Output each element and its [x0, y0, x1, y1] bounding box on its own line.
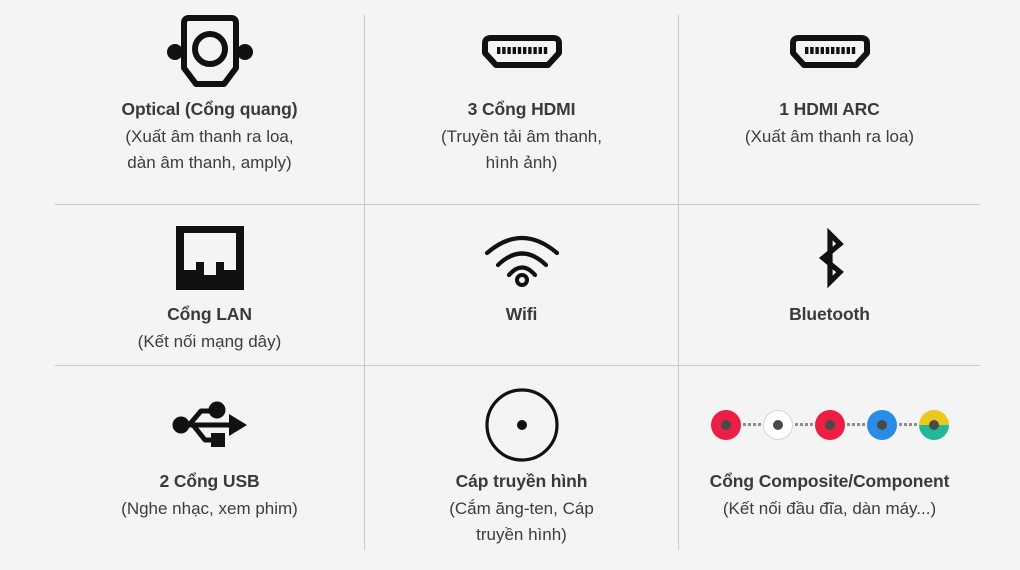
cell-subtitle: (Cắm ăng-ten, Cáp truyền hình)	[449, 496, 594, 549]
cell-title: 1 HDMI ARC	[779, 98, 879, 122]
hdmi-port-icon	[365, 0, 678, 98]
cell-title: Cáp truyền hình	[456, 470, 588, 494]
cell-usb: 2 Cổng USB (Nghe nhạc, xem phim)	[55, 366, 364, 570]
rca-connector-row	[711, 410, 949, 440]
rca-white	[763, 410, 793, 440]
rca-pin	[825, 420, 835, 430]
wifi-icon	[365, 205, 678, 301]
cell-bluetooth: Bluetooth	[679, 205, 980, 365]
bluetooth-icon	[679, 205, 980, 301]
cell-title: 3 Cổng HDMI	[468, 98, 576, 122]
rca-red-right	[815, 410, 845, 440]
rca-pin	[773, 420, 783, 430]
cable-dashes	[897, 423, 919, 427]
cell-title: Bluetooth	[789, 303, 870, 327]
cell-optical: Optical (Cổng quang) (Xuất âm thanh ra l…	[55, 0, 364, 204]
cell-title: Cổng Composite/Component	[710, 470, 950, 494]
rca-blue	[867, 410, 897, 440]
cell-subtitle: (Xuất âm thanh ra loa, dàn âm thanh, amp…	[125, 124, 293, 177]
cable-dashes	[793, 423, 815, 427]
cell-subtitle-line: hình ảnh)	[441, 150, 602, 176]
cell-title: Cổng LAN	[167, 303, 252, 327]
cell-hdmi-arc: 1 HDMI ARC (Xuất âm thanh ra loa)	[679, 0, 980, 204]
cell-subtitle-line: (Kết nối mạng dây)	[138, 329, 282, 355]
rca-pin	[929, 420, 939, 430]
cell-subtitle: (Nghe nhạc, xem phim)	[121, 496, 298, 522]
connectivity-ports-infographic: Optical (Cổng quang) (Xuất âm thanh ra l…	[0, 0, 1020, 570]
cable-dashes	[845, 423, 867, 427]
cell-hdmi: 3 Cổng HDMI (Truyền tải âm thanh, hình ả…	[365, 0, 678, 204]
composite-component-rca-icon	[679, 366, 980, 470]
cell-subtitle-line: truyền hình)	[449, 522, 594, 548]
cell-subtitle-line: dàn âm thanh, amply)	[125, 150, 293, 176]
optical-toslink-port-icon	[55, 0, 364, 98]
cell-subtitle: (Kết nối đầu đĩa, dàn máy...)	[723, 496, 936, 522]
cell-subtitle: (Truyền tải âm thanh, hình ảnh)	[441, 124, 602, 177]
cell-wifi: Wifi	[365, 205, 678, 365]
cell-title: Optical (Cổng quang)	[122, 98, 298, 122]
cell-subtitle: (Xuất âm thanh ra loa)	[745, 124, 914, 150]
cell-subtitle-line: (Nghe nhạc, xem phim)	[121, 496, 298, 522]
cell-subtitle: (Kết nối mạng dây)	[138, 329, 282, 355]
cell-subtitle-line: (Truyền tải âm thanh,	[441, 124, 602, 150]
usb-port-icon	[55, 366, 364, 470]
cell-title: 2 Cổng USB	[159, 470, 259, 494]
cell-title: Wifi	[506, 303, 538, 327]
rca-pin	[877, 420, 887, 430]
coaxial-antenna-port-icon	[365, 366, 678, 470]
hdmi-arc-port-icon	[679, 0, 980, 98]
cell-subtitle-line: (Xuất âm thanh ra loa)	[745, 124, 914, 150]
rca-pin	[721, 420, 731, 430]
cell-lan: Cổng LAN (Kết nối mạng dây)	[55, 205, 364, 365]
cell-subtitle-line: (Kết nối đầu đĩa, dàn máy...)	[723, 496, 936, 522]
rca-yellow-green	[919, 410, 949, 440]
cell-subtitle-line: (Cắm ăng-ten, Cáp	[449, 496, 594, 522]
lan-rj45-port-icon	[55, 205, 364, 301]
cell-coaxial: Cáp truyền hình (Cắm ăng-ten, Cáp truyền…	[365, 366, 678, 570]
rca-red-left	[711, 410, 741, 440]
cell-composite-component: Cổng Composite/Component (Kết nối đầu đĩ…	[679, 366, 980, 570]
cable-dashes	[741, 423, 763, 427]
cell-subtitle-line: (Xuất âm thanh ra loa,	[125, 124, 293, 150]
